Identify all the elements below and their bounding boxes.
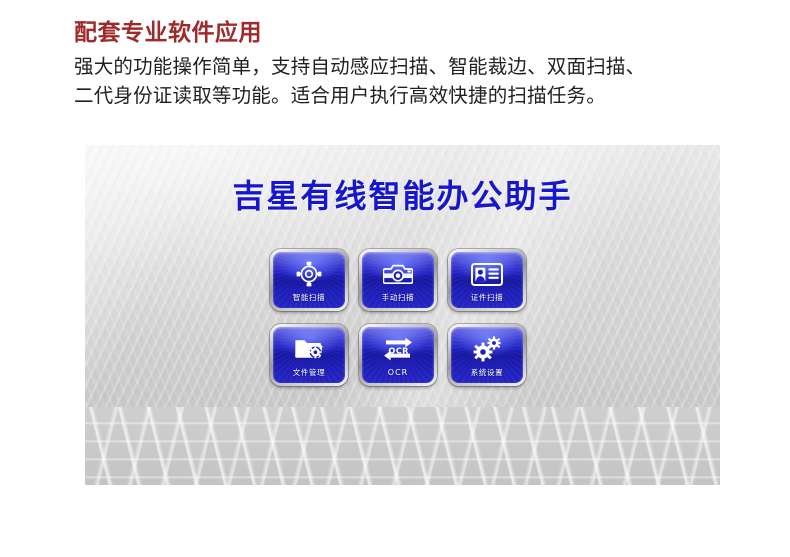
camera-icon <box>362 260 434 288</box>
app-button-id-card-scan[interactable]: 证件扫描 <box>448 249 526 311</box>
button-face: OCR OCR <box>362 327 434 383</box>
button-face: 文件管理 <box>273 327 345 383</box>
app-button-label: 系统设置 <box>451 368 523 377</box>
panel-floor-crosshatch <box>85 407 720 485</box>
app-button-label: 手动扫描 <box>362 293 434 302</box>
body-line-2: 二代身份证读取等功能。适合用户执行高效快捷的扫描任务。 <box>74 81 714 110</box>
app-button-label: 文件管理 <box>273 368 345 377</box>
button-face: 智能扫描 <box>273 252 345 308</box>
app-title: 吉星有线智能办公助手 <box>85 171 720 217</box>
id-card-icon <box>451 260 523 288</box>
svg-text:OCR: OCR <box>388 345 409 355</box>
scan-target-icon <box>273 260 345 288</box>
app-button-label: 智能扫描 <box>273 293 345 302</box>
folder-gear-icon <box>273 335 345 363</box>
app-button-file-management[interactable]: 文件管理 <box>270 324 348 386</box>
marketing-copy-block: 配套专业软件应用 强大的功能操作简单，支持自动感应扫描、智能裁边、双面扫描、 二… <box>74 18 714 110</box>
app-button-grid: 智能扫描 手动扫描 <box>264 249 532 386</box>
app-button-manual-scan[interactable]: 手动扫描 <box>359 249 437 311</box>
section-heading: 配套专业软件应用 <box>74 18 714 48</box>
body-line-1: 强大的功能操作简单，支持自动感应扫描、智能裁边、双面扫描、 <box>74 52 714 81</box>
button-face: 系统设置 <box>451 327 523 383</box>
app-button-ocr[interactable]: OCR OCR <box>359 324 437 386</box>
button-face: 手动扫描 <box>362 252 434 308</box>
application-screenshot-panel: 吉星有线智能办公助手 <box>85 145 720 485</box>
app-button-label: 证件扫描 <box>451 293 523 302</box>
gears-icon <box>451 335 523 363</box>
app-button-label: OCR <box>362 368 434 377</box>
app-button-system-settings[interactable]: 系统设置 <box>448 324 526 386</box>
section-body: 强大的功能操作简单，支持自动感应扫描、智能裁边、双面扫描、 二代身份证读取等功能… <box>74 52 714 110</box>
button-face: 证件扫描 <box>451 252 523 308</box>
ocr-arrows-icon: OCR <box>362 335 434 363</box>
app-button-smart-scan[interactable]: 智能扫描 <box>270 249 348 311</box>
